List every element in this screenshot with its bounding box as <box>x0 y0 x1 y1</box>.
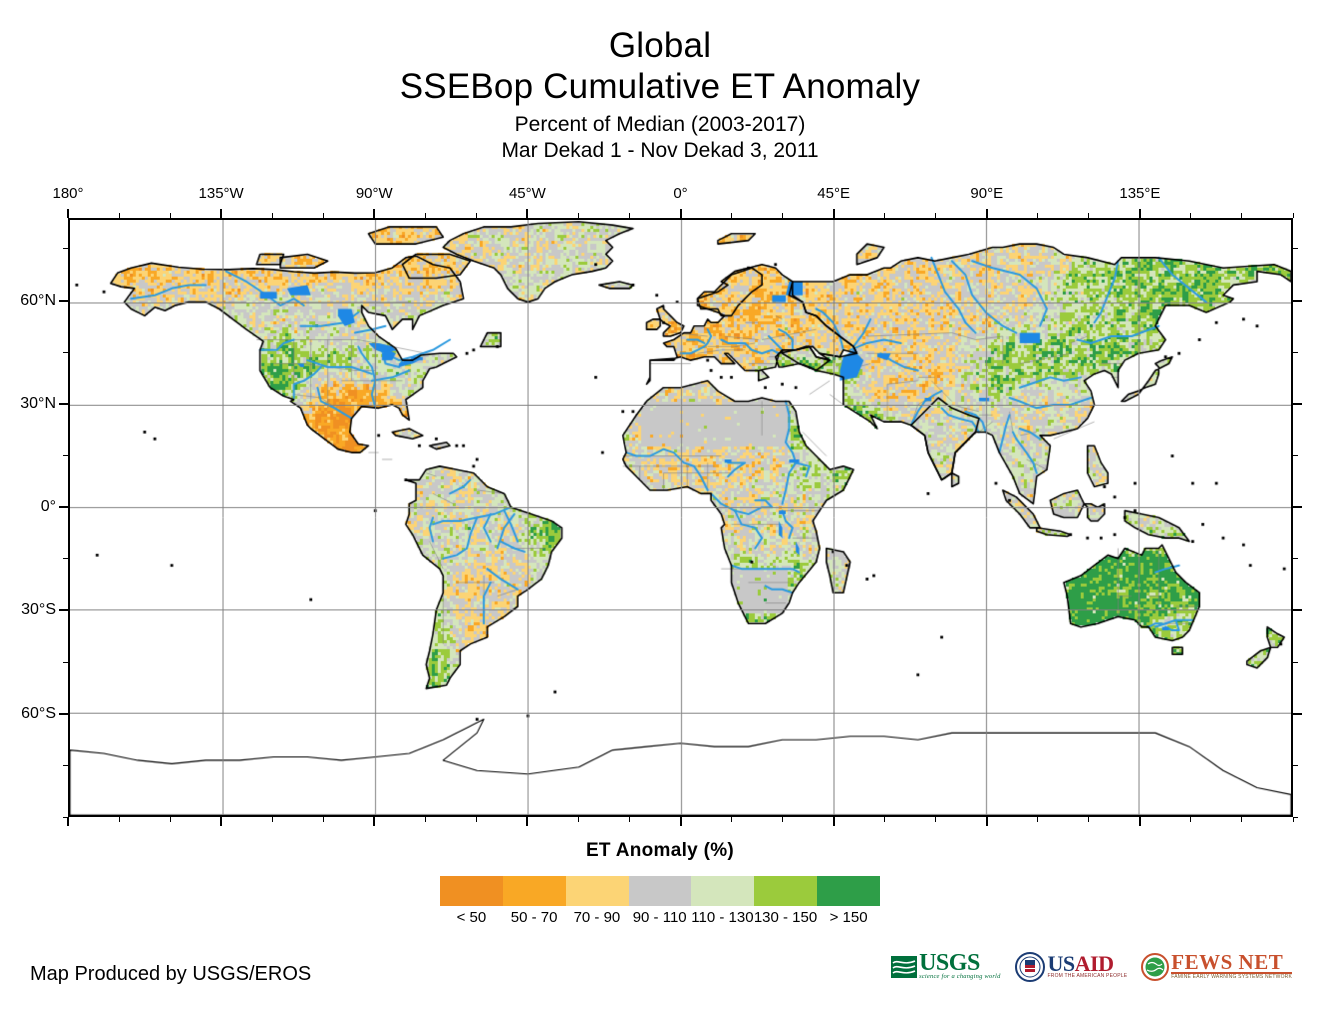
lon-tick <box>323 213 324 218</box>
lon-tick <box>67 817 69 826</box>
lon-tick <box>986 209 988 218</box>
lon-tick <box>731 817 732 822</box>
lat-label-0: 60°N <box>6 292 56 310</box>
lon-tick <box>1088 213 1089 218</box>
legend-swatch-2 <box>566 876 629 906</box>
lat-tick <box>1293 403 1302 405</box>
lon-tick <box>170 817 171 822</box>
legend-label-4: 110 - 130 <box>691 909 754 926</box>
legend-swatch-1 <box>503 876 566 906</box>
lon-label-4: 0° <box>673 185 687 202</box>
map-credit: Map Produced by USGS/EROS <box>30 963 311 986</box>
lat-tick <box>59 609 68 611</box>
world-map-canvas[interactable] <box>70 220 1291 815</box>
usgs-wordmark: USGS <box>919 953 1000 973</box>
lon-tick <box>833 209 835 218</box>
lat-label-2: 0° <box>6 498 56 516</box>
lon-tick <box>935 213 936 218</box>
lon-tick <box>680 209 682 218</box>
lon-tick <box>578 213 579 218</box>
lon-tick <box>526 817 528 826</box>
lon-label-1: 135°W <box>199 185 244 202</box>
lon-tick <box>373 209 375 218</box>
legend-swatch-5 <box>754 876 817 906</box>
usgs-wave-icon <box>891 956 917 978</box>
legend-title: ET Anomaly (%) <box>0 840 1320 862</box>
lon-tick <box>578 817 579 822</box>
lon-tick <box>1088 817 1089 822</box>
lat-tick <box>63 455 68 456</box>
lat-tick <box>1293 765 1298 766</box>
lon-tick <box>1190 817 1191 822</box>
lon-tick <box>1293 213 1294 218</box>
map-frame[interactable] <box>68 218 1293 817</box>
lat-tick <box>59 403 68 405</box>
lon-tick <box>731 213 732 218</box>
lon-tick <box>476 213 477 218</box>
lat-tick <box>59 713 68 715</box>
lat-tick <box>1293 558 1298 559</box>
lon-label-6: 90°E <box>970 185 1003 202</box>
title-block: Global SSEBop Cumulative ET Anomaly Perc… <box>0 0 1320 164</box>
lat-label-1: 30°N <box>6 395 56 413</box>
lon-tick <box>67 209 69 218</box>
lon-label-5: 45°E <box>817 185 850 202</box>
lon-tick <box>220 817 222 826</box>
lon-tick <box>833 817 835 826</box>
lon-tick <box>1241 213 1242 218</box>
legend-labels: < 5050 - 7070 - 9090 - 110110 - 130130 -… <box>440 909 880 926</box>
lon-tick <box>782 817 783 822</box>
lon-label-0: 180° <box>52 185 83 202</box>
lat-tick <box>63 817 68 818</box>
legend-label-3: 90 - 110 <box>628 909 691 926</box>
lon-tick <box>986 817 988 826</box>
lon-tick <box>680 817 682 826</box>
lon-tick <box>476 817 477 822</box>
lon-tick <box>884 817 885 822</box>
lon-tick <box>1293 817 1294 822</box>
lat-tick <box>1293 609 1302 611</box>
lon-tick <box>119 213 120 218</box>
legend-swatch-4 <box>691 876 754 906</box>
lat-tick <box>63 662 68 663</box>
lat-tick <box>1293 248 1298 249</box>
lon-tick <box>425 817 426 822</box>
lat-tick <box>59 506 68 508</box>
title-date-range: Mar Dekad 1 - Nov Dekad 3, 2011 <box>0 138 1320 164</box>
legend-label-1: 50 - 70 <box>503 909 566 926</box>
lon-tick <box>629 817 630 822</box>
legend: ET Anomaly (%) < 5050 - 7070 - 9090 - 11… <box>0 840 1320 926</box>
fews-logo: FEWS NET FAMINE EARLY WARNING SYSTEMS NE… <box>1141 953 1292 981</box>
lon-tick <box>1241 817 1242 822</box>
lat-tick <box>59 300 68 302</box>
lon-tick <box>1190 213 1191 218</box>
lat-tick <box>1293 817 1298 818</box>
lat-tick <box>63 352 68 353</box>
lat-label-3: 30°S <box>6 601 56 619</box>
lon-tick <box>272 817 273 822</box>
page-title: Global <box>0 0 1320 66</box>
lon-tick <box>220 209 222 218</box>
fews-globe-icon <box>1141 953 1169 981</box>
usgs-logo: USGS science for a changing world <box>891 953 1000 981</box>
lon-tick <box>323 817 324 822</box>
usgs-tagline: science for a changing world <box>919 973 1000 981</box>
legend-swatch-6 <box>817 876 880 906</box>
lat-tick <box>1293 506 1302 508</box>
lon-tick <box>782 213 783 218</box>
usaid-logo: USAID FROM THE AMERICAN PEOPLE <box>1015 952 1128 982</box>
title-period-note: Percent of Median (2003-2017) <box>0 108 1320 138</box>
lon-tick <box>884 213 885 218</box>
usaid-wordmark: USAID <box>1048 954 1128 973</box>
legend-swatch-3 <box>629 876 692 906</box>
lon-tick <box>1037 213 1038 218</box>
lon-tick <box>272 213 273 218</box>
legend-label-6: > 150 <box>817 909 880 926</box>
lon-tick <box>119 817 120 822</box>
lon-tick <box>935 817 936 822</box>
legend-label-5: 130 - 150 <box>754 909 817 926</box>
logo-strip: USGS science for a changing world USAID … <box>891 952 1292 982</box>
usaid-tagline: FROM THE AMERICAN PEOPLE <box>1048 973 1128 980</box>
legend-label-0: < 50 <box>440 909 503 926</box>
lat-tick <box>63 248 68 249</box>
lat-tick <box>1293 455 1298 456</box>
lat-tick <box>63 558 68 559</box>
legend-color-bar <box>440 876 880 906</box>
lon-tick <box>373 817 375 826</box>
legend-swatch-0 <box>440 876 503 906</box>
lon-tick <box>1139 817 1141 826</box>
lat-tick <box>1293 300 1302 302</box>
page-subtitle: SSEBop Cumulative ET Anomaly <box>0 66 1320 108</box>
lat-tick <box>1293 352 1298 353</box>
legend-label-2: 70 - 90 <box>566 909 629 926</box>
lat-tick <box>63 765 68 766</box>
lon-tick <box>1037 817 1038 822</box>
lat-label-4: 60°S <box>6 705 56 723</box>
lon-tick <box>425 213 426 218</box>
lat-tick <box>1293 662 1298 663</box>
usaid-seal-icon <box>1015 952 1045 982</box>
lon-tick <box>526 209 528 218</box>
lon-label-2: 90°W <box>356 185 393 202</box>
fews-wordmark: FEWS NET <box>1171 953 1292 974</box>
lon-label-3: 45°W <box>509 185 546 202</box>
lon-label-7: 135°E <box>1119 185 1160 202</box>
lat-tick <box>1293 713 1302 715</box>
fews-tagline: FAMINE EARLY WARNING SYSTEMS NETWORK <box>1171 974 1292 981</box>
lon-tick <box>170 213 171 218</box>
lon-tick <box>629 213 630 218</box>
lon-tick <box>1139 209 1141 218</box>
